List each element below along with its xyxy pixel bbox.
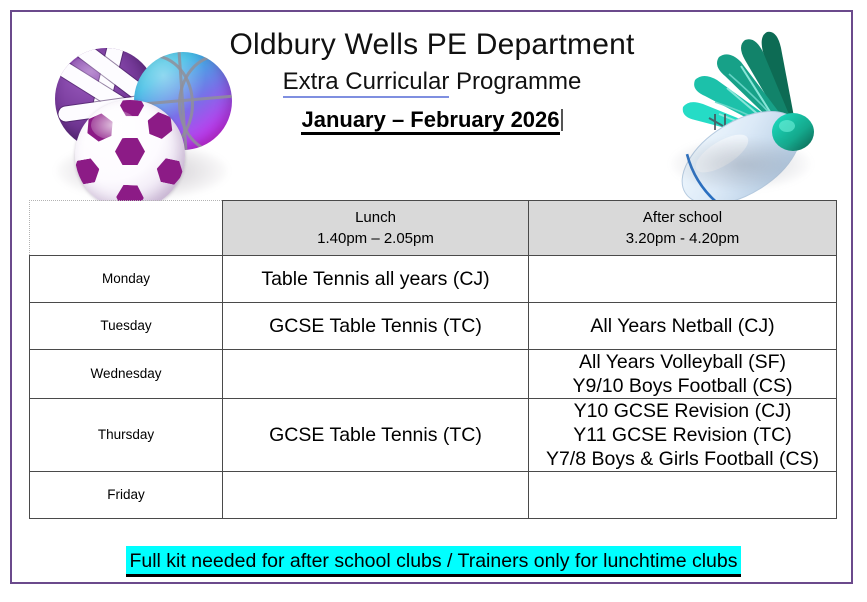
timetable-header-row: Lunch 1.40pm – 2.05pm After school 3.20p… xyxy=(30,201,837,256)
football-highlight xyxy=(91,110,137,140)
timetable-header-after-school: After school 3.20pm - 4.20pm xyxy=(529,201,837,256)
timetable-lunch-cell xyxy=(223,472,529,519)
timetable-lunch-cell: Table Tennis all years (CJ) xyxy=(223,256,529,303)
activity-label: Y9/10 Boys Football (CS) xyxy=(529,374,836,398)
poster-page: Oldbury Wells PE Department Extra Curric… xyxy=(10,10,853,584)
football-patch xyxy=(75,157,101,186)
page-subtitle-underlined: Extra Curricular xyxy=(283,68,450,98)
date-range: January – February 2026 xyxy=(162,104,702,136)
timetable-header-lunch: Lunch 1.40pm – 2.05pm xyxy=(223,201,529,256)
poster-header: Oldbury Wells PE Department Extra Curric… xyxy=(12,12,851,190)
timetable-after-school-cell: Y10 GCSE Revision (CJ)Y11 GCSE Revision … xyxy=(529,399,837,472)
timetable-body: MondayTable Tennis all years (CJ)Tuesday… xyxy=(30,256,837,519)
activity-label: Table Tennis all years (CJ) xyxy=(223,267,528,291)
timetable-row: Friday xyxy=(30,472,837,519)
timetable-after-school-cell xyxy=(529,256,837,303)
page-subtitle-plain: Programme xyxy=(449,68,581,95)
activity-label: All Years Volleyball (SF) xyxy=(529,350,836,374)
text-caret xyxy=(561,109,563,131)
timetable-day-cell: Wednesday xyxy=(30,350,223,399)
timetable: Lunch 1.40pm – 2.05pm After school 3.20p… xyxy=(29,200,837,519)
timetable-row: MondayTable Tennis all years (CJ) xyxy=(30,256,837,303)
page-subtitle: Extra Curricular Programme xyxy=(162,65,702,98)
volleyball-highlight xyxy=(69,56,113,86)
shuttlecock-shadow xyxy=(671,138,811,190)
activity-label: All Years Netball (CJ) xyxy=(529,314,836,338)
shuttlecock-icon xyxy=(661,20,841,202)
activity-label: GCSE Table Tennis (TC) xyxy=(223,423,528,447)
activity-label: Y7/8 Boys & Girls Football (CS) xyxy=(529,447,836,471)
timetable-row: WednesdayAll Years Volleyball (SF)Y9/10 … xyxy=(30,350,837,399)
title-block: Oldbury Wells PE Department Extra Curric… xyxy=(162,26,702,136)
timetable-head: Lunch 1.40pm – 2.05pm After school 3.20p… xyxy=(30,201,837,256)
timetable-row: TuesdayGCSE Table Tennis (TC)All Years N… xyxy=(30,303,837,350)
timetable-lunch-cell: GCSE Table Tennis (TC) xyxy=(223,399,529,472)
timetable-day-cell: Tuesday xyxy=(30,303,223,350)
page-title: Oldbury Wells PE Department xyxy=(162,26,702,64)
header-lunch-title: Lunch xyxy=(223,207,528,228)
timetable-after-school-cell: All Years Netball (CJ) xyxy=(529,303,837,350)
date-range-text: January – February 2026 xyxy=(301,107,559,135)
football-patch xyxy=(115,138,145,165)
activity-label: Y11 GCSE Revision (TC) xyxy=(529,423,836,447)
header-lunch-time: 1.40pm – 2.05pm xyxy=(223,228,528,249)
timetable-day-cell: Friday xyxy=(30,472,223,519)
timetable-day-cell: Thursday xyxy=(30,399,223,472)
timetable-row: ThursdayGCSE Table Tennis (TC)Y10 GCSE R… xyxy=(30,399,837,472)
header-after-title: After school xyxy=(529,207,836,228)
activity-label: Y10 GCSE Revision (CJ) xyxy=(529,399,836,423)
activity-label: GCSE Table Tennis (TC) xyxy=(223,314,528,338)
footer-note: Full kit needed for after school clubs /… xyxy=(12,546,855,577)
timetable-after-school-cell xyxy=(529,472,837,519)
timetable-lunch-cell: GCSE Table Tennis (TC) xyxy=(223,303,529,350)
kit-requirement-text: Full kit needed for after school clubs /… xyxy=(126,546,740,577)
timetable-day-cell: Monday xyxy=(30,256,223,303)
timetable-lunch-cell xyxy=(223,350,529,399)
timetable-corner-cell xyxy=(30,201,223,256)
timetable-after-school-cell: All Years Volleyball (SF)Y9/10 Boys Foot… xyxy=(529,350,837,399)
header-after-time: 3.20pm - 4.20pm xyxy=(529,228,836,249)
